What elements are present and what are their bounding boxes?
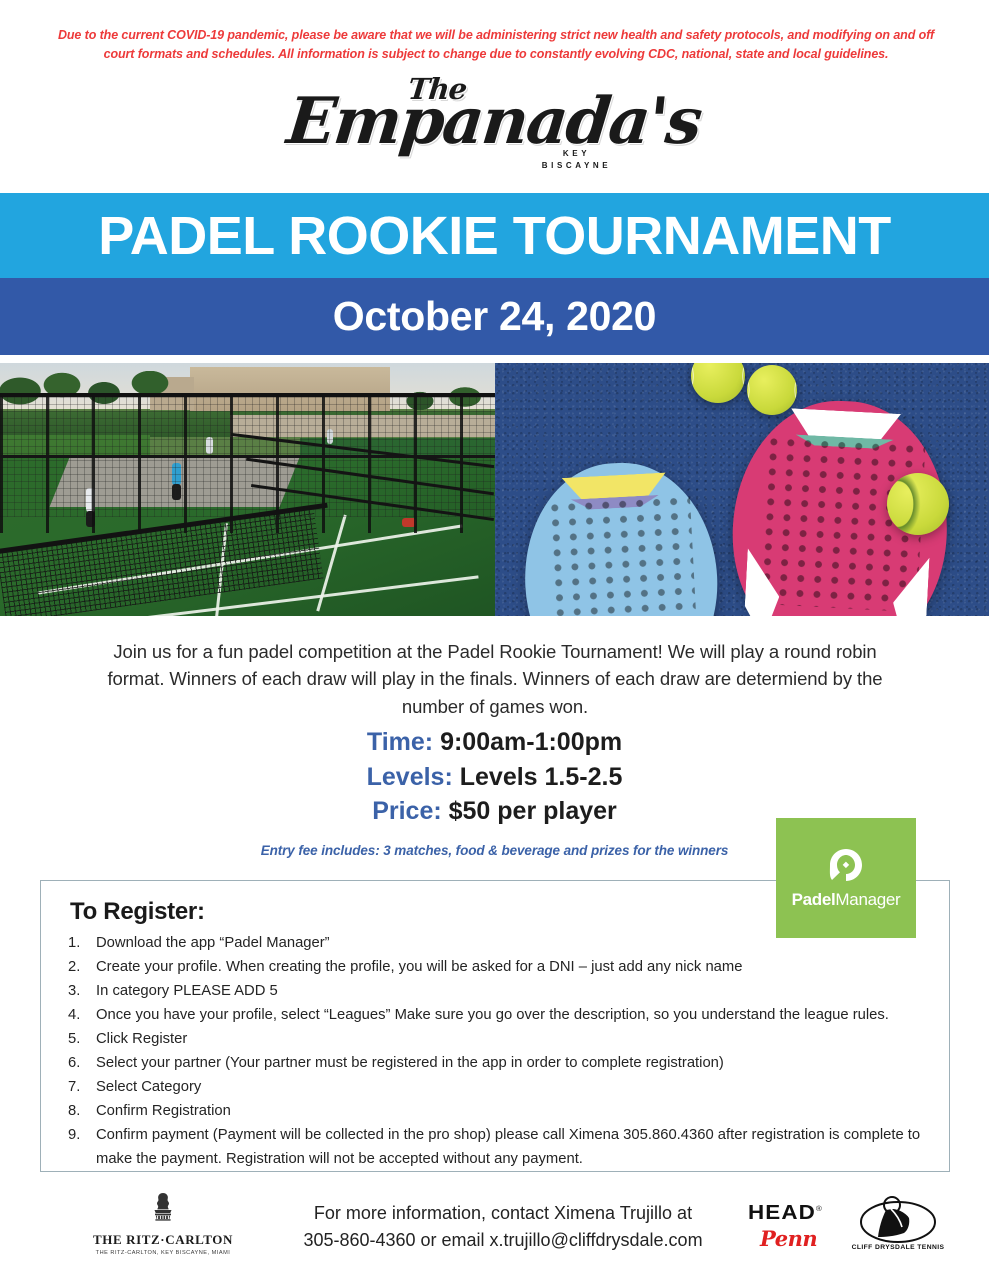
padel-rackets-photo <box>495 363 989 616</box>
empanadas-logo-name: Empanada's <box>284 84 704 159</box>
step-text: Click Register <box>96 1028 952 1052</box>
step-number: 7. <box>62 1076 96 1100</box>
step-number: 6. <box>62 1052 96 1076</box>
photo-strip <box>0 363 989 616</box>
sponsor-logos: HEAD Penn CLIFF DRYSDALE TENNIS <box>744 1194 944 1264</box>
covid-notice: Due to the current COVID-19 pandemic, pl… <box>46 26 946 64</box>
detail-label-price: Price: <box>372 797 441 825</box>
register-steps-list: 1. Download the app “Padel Manager” 2. C… <box>62 932 952 1172</box>
tennis-ball-icon <box>747 365 797 415</box>
ritz-carlton-location: THE RITZ-CARLTON, KEY BISCAYNE, MIAMI <box>88 1250 238 1256</box>
lion-crown-icon <box>88 1190 238 1230</box>
register-heading: To Register: <box>70 898 205 926</box>
padel-manager-icon <box>826 846 866 886</box>
list-item: 3. In category PLEASE ADD 5 <box>62 980 952 1004</box>
contact-line-1: For more information, contact Ximena Tru… <box>268 1200 738 1227</box>
intro-paragraph: Join us for a fun padel competition at t… <box>95 638 895 720</box>
step-text: Create your profile. When creating the p… <box>96 956 952 980</box>
detail-label-time: Time: <box>367 728 433 756</box>
list-item: 8. Confirm Registration <box>62 1100 952 1124</box>
tennis-ball-icon <box>887 473 949 535</box>
step-number: 4. <box>62 1004 96 1028</box>
list-item: 2. Create your profile. When creating th… <box>62 956 952 980</box>
event-details: Time: 9:00am-1:00pm Levels: Levels 1.5-2… <box>0 725 989 829</box>
racket-holes <box>544 491 698 616</box>
step-number: 3. <box>62 980 96 1004</box>
empanadas-logo-script: The Empanada's <box>0 74 989 156</box>
title-banner: PADEL ROOKIE TOURNAMENT <box>0 193 989 278</box>
contact-line-2: 305-860-4360 or email x.trujillo@cliffdr… <box>268 1227 738 1254</box>
padel-courts-photo <box>0 363 495 616</box>
detail-value-levels: Levels 1.5-2.5 <box>460 763 623 791</box>
penn-logo: Penn <box>760 1226 817 1251</box>
empanadas-logo-key: KEY <box>517 148 637 160</box>
cliff-drysdale-wordmark: CLIFF DRYSDALE TENNIS <box>850 1244 947 1251</box>
contact-info: For more information, contact Ximena Tru… <box>268 1200 738 1254</box>
ritz-carlton-name: THE RITZ·CARLTON <box>88 1232 238 1248</box>
photo-fence-rail-top <box>0 393 495 397</box>
detail-value-time: 9:00am-1:00pm <box>440 728 622 756</box>
padel-manager-wordmark: PadelManager <box>792 890 901 910</box>
empanadas-logo-location: KEY BISCAYNE <box>517 148 637 171</box>
step-number: 2. <box>62 956 96 980</box>
empanadas-logo: The Empanada's KEY BISCAYNE <box>0 80 989 185</box>
padel-manager-logo: PadelManager <box>776 818 916 938</box>
page-title: PADEL ROOKIE TOURNAMENT <box>98 209 891 263</box>
head-logo: HEAD <box>748 1202 823 1225</box>
step-number: 5. <box>62 1028 96 1052</box>
detail-label-levels: Levels: <box>367 763 453 791</box>
detail-value-price: $50 per player <box>449 797 617 825</box>
list-item: 5. Click Register <box>62 1028 952 1052</box>
step-text: Confirm payment (Payment will be collect… <box>96 1124 952 1172</box>
step-text: Select your partner (Your partner must b… <box>96 1052 952 1076</box>
padel-manager-word-padel: Padel <box>792 890 836 909</box>
empanadas-logo-biscayne: BISCAYNE <box>517 160 637 172</box>
detail-row-time: Time: 9:00am-1:00pm <box>0 725 989 760</box>
step-number: 1. <box>62 932 96 956</box>
padel-manager-word-manager: Manager <box>835 890 900 909</box>
list-item: 7. Select Category <box>62 1076 952 1100</box>
cliff-drysdale-logo: CLIFF DRYSDALE TENNIS <box>852 1196 944 1262</box>
step-text: Once you have your profile, select “Leag… <box>96 1004 952 1028</box>
step-number: 8. <box>62 1100 96 1124</box>
step-text: Confirm Registration <box>96 1100 952 1124</box>
step-number: 9. <box>62 1124 96 1148</box>
footer: THE RITZ·CARLTON THE RITZ-CARLTON, KEY B… <box>0 1186 989 1280</box>
list-item: 4. Once you have your profile, select “L… <box>62 1004 952 1028</box>
list-item: 6. Select your partner (Your partner mus… <box>62 1052 952 1076</box>
list-item: 9. Confirm payment (Payment will be coll… <box>62 1124 952 1172</box>
step-text: Select Category <box>96 1076 952 1100</box>
photo-fence-posts <box>0 393 495 533</box>
date-banner: October 24, 2020 <box>0 278 989 355</box>
detail-row-levels: Levels: Levels 1.5-2.5 <box>0 760 989 795</box>
ritz-carlton-logo: THE RITZ·CARLTON THE RITZ-CARLTON, KEY B… <box>88 1190 238 1256</box>
step-text: In category PLEASE ADD 5 <box>96 980 952 1004</box>
event-date: October 24, 2020 <box>333 296 656 337</box>
flyer-page: Due to the current COVID-19 pandemic, pl… <box>0 0 989 1280</box>
